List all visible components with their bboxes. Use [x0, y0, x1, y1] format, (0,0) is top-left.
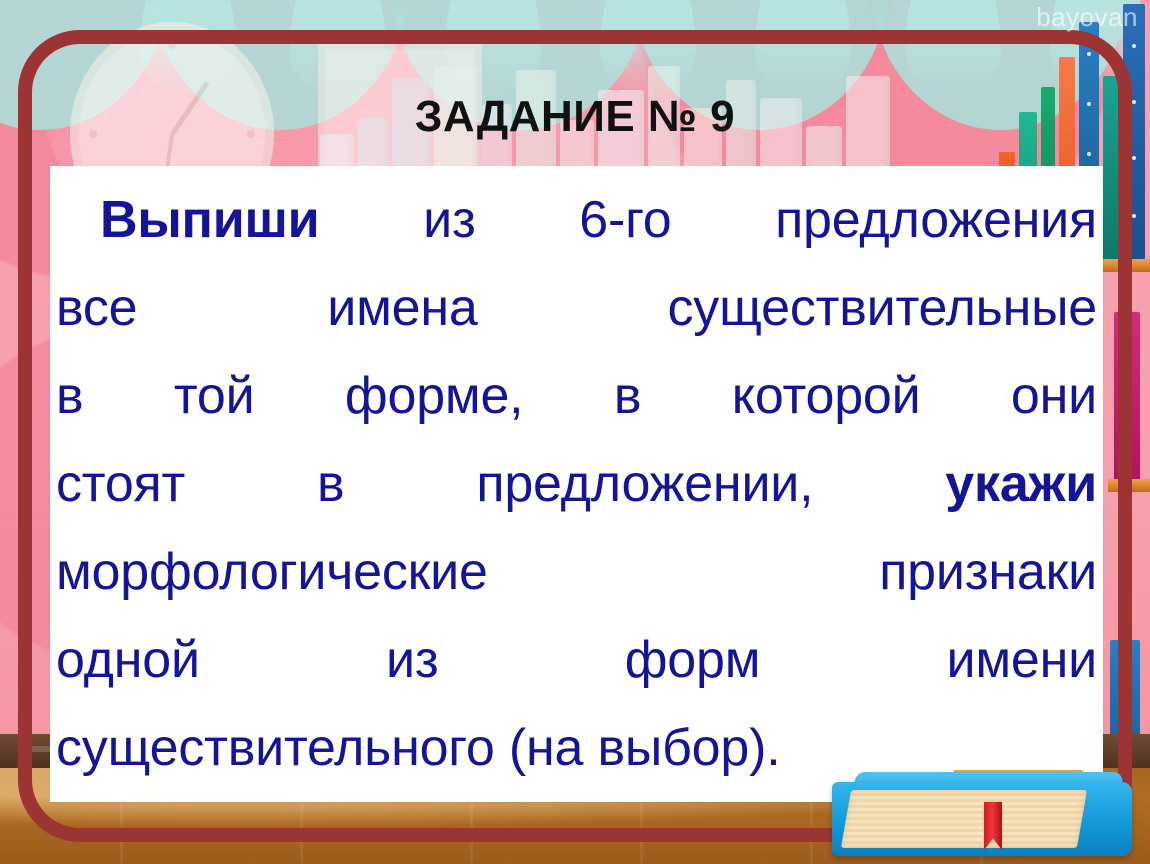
task-line-1: Выпиши из 6-го предложения	[56, 176, 1097, 264]
task-line-2: все имена существительные	[56, 264, 1097, 352]
task-line-3: в той форме, в которой они	[56, 352, 1097, 440]
task-line-5: морфологические признаки	[56, 528, 1097, 616]
task-line-1-bold: Выпиши	[100, 191, 319, 249]
watermark: bayovan	[1036, 2, 1138, 33]
textbook-illustration	[832, 764, 1132, 856]
task-line-4-rest: стоят в предложении,	[56, 455, 945, 513]
task-text-card: Выпиши из 6-го предложения все имена сущ…	[50, 166, 1103, 802]
task-line-6: одной из форм имени	[56, 616, 1097, 704]
task-line-1-rest: из 6-го предложения	[319, 191, 1097, 249]
task-line-4-bold: укажи	[945, 455, 1097, 513]
task-line-4: стоят в предложении, укажи	[56, 440, 1097, 528]
task-text: Выпиши из 6-го предложения все имена сущ…	[56, 176, 1097, 792]
slide-root: ЗАДАНИЕ № 9 Выпиши из 6-го предложения в…	[0, 0, 1150, 864]
page-title: ЗАДАНИЕ № 9	[0, 92, 1150, 142]
